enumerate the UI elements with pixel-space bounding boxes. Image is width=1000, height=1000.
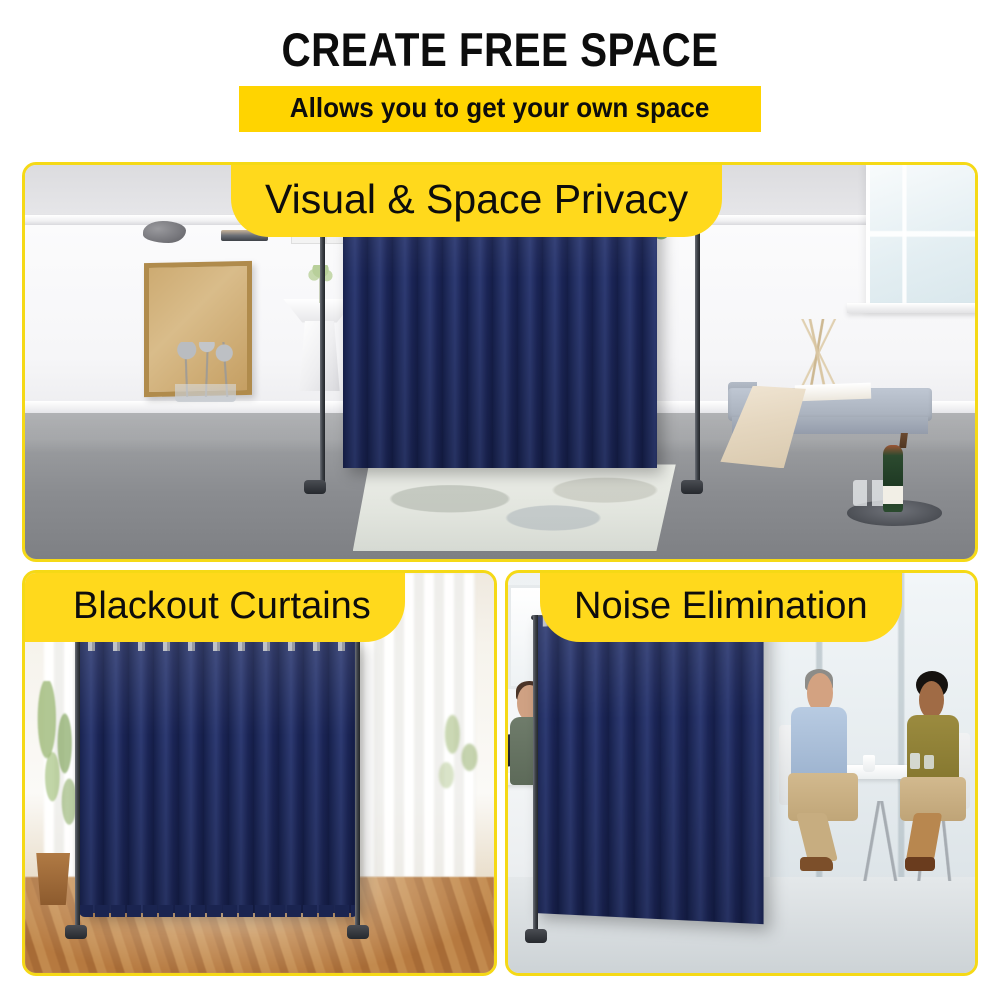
page-title: CREATE FREE SPACE	[70, 22, 930, 78]
window-frame	[866, 165, 975, 311]
dried-branches	[780, 319, 856, 386]
potted-plant-right	[428, 701, 489, 829]
feature-panel-noise-elimination[interactable]: Noise Elimination	[505, 570, 978, 976]
coffee-cup	[863, 755, 875, 772]
glass-vases	[175, 384, 236, 402]
divider-caster-left	[304, 480, 326, 494]
water-glass-a	[910, 753, 920, 769]
feature-panel-blackout-curtains[interactable]: Blackout Curtains	[22, 570, 497, 976]
person-d-torso	[907, 715, 958, 783]
panel-badge-visual-space-privacy: Visual & Space Privacy	[231, 165, 722, 237]
open-book-on-daybed	[794, 382, 871, 400]
divider-caster-left	[525, 929, 547, 943]
subtitle-highlight: Allows you to get your own space	[239, 86, 761, 132]
wine-bottle-label	[883, 486, 903, 504]
curtain-hem	[79, 905, 358, 917]
navy-curtain-divider	[79, 641, 358, 913]
panel-badge-blackout-curtains: Blackout Curtains	[25, 573, 405, 642]
page-subtitle: Allows you to get your own space	[290, 92, 710, 124]
water-glass-b	[924, 755, 934, 769]
wine-glasses	[853, 480, 885, 506]
product-feature-banner: CREATE FREE SPACE Allows you to get your…	[0, 0, 1000, 1000]
person-c-torso	[791, 707, 847, 779]
window-glass	[870, 165, 975, 307]
navy-curtain-divider	[534, 606, 764, 924]
divider-caster-left	[65, 925, 87, 939]
person-c-shoe	[800, 857, 833, 871]
feature-panel-visual-space-privacy[interactable]: Visual & Space Privacy	[22, 162, 978, 562]
area-rug	[353, 464, 676, 551]
sculpture-decor	[143, 221, 187, 242]
daybed-leg-right	[899, 433, 907, 448]
divider-caster-right	[681, 480, 703, 494]
panel-badge-noise-elimination: Noise Elimination	[540, 573, 902, 642]
curtain-grommets	[79, 641, 358, 651]
divider-post-right	[355, 637, 360, 929]
window-sill	[847, 303, 975, 313]
divider-post-left	[75, 637, 80, 929]
divider-post-left	[533, 615, 538, 935]
divider-caster-right	[347, 925, 369, 939]
banner-header: CREATE FREE SPACE Allows you to get your…	[0, 0, 1000, 160]
curtain-shading	[534, 606, 764, 924]
person-d-shoe	[905, 857, 935, 871]
curtain-shading	[79, 641, 358, 913]
